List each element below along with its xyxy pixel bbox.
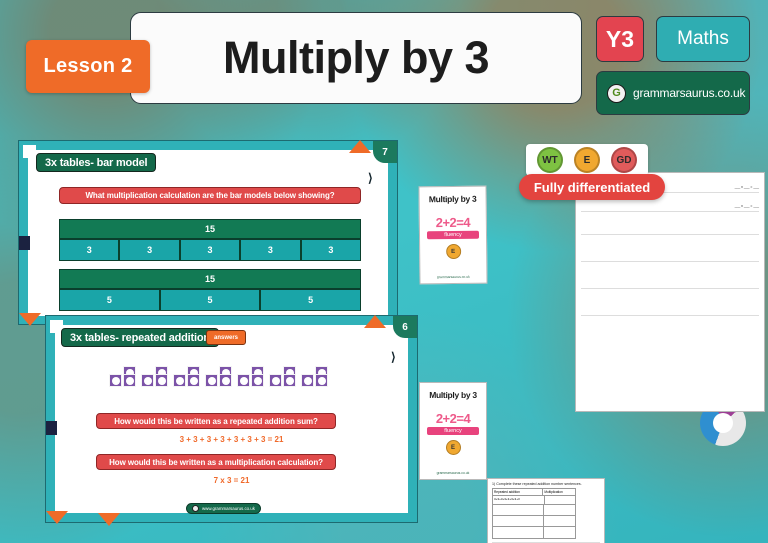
page-title: Multiply by 3 (223, 32, 489, 84)
cube-cell (187, 374, 200, 387)
question-text: Complete these repeated addition number … (496, 482, 582, 486)
fully-differentiated-badge: Fully differentiated (519, 174, 665, 200)
cube-cell (301, 374, 314, 387)
chevron-right-icon: ⟩ (391, 350, 396, 364)
cube-group (108, 366, 136, 387)
fluency-label: fluency (427, 231, 479, 240)
blank-answer-line[interactable]: ___ x ___ = ___ (735, 185, 759, 189)
decor-triangle-icon (349, 140, 371, 153)
cube-cell (123, 374, 136, 387)
decor-triangle-icon (46, 511, 68, 524)
cube-group (140, 366, 168, 387)
multiplication-answer: 7 x 3 = 21 (46, 476, 417, 485)
slide-thumbnail-bar-model[interactable]: ⟩ 7 3x tables- bar model What multiplica… (18, 140, 398, 325)
cube-group (236, 366, 264, 387)
fluency-badge: 2+2=4 fluency (427, 412, 479, 435)
table-header: Repeated addition (493, 489, 543, 495)
worksheet-footer: grammarsaurus.co.uk (420, 275, 486, 280)
worksheet-title: Multiply by 3 (420, 194, 486, 205)
cube-group (204, 366, 232, 387)
table-header: Multiplication (543, 489, 575, 495)
bar-model-parts: 5 5 5 (59, 289, 361, 311)
slide-preview-canvas: Multiply by 3 Lesson 2 Y3 Maths G gramma… (0, 0, 768, 543)
slide-page-number: 6 (393, 316, 417, 338)
cube-cell (315, 374, 328, 387)
slide-title-tag: 3x tables- bar model (36, 153, 156, 172)
cube-cell (141, 374, 154, 387)
question-heading: 1) Complete these repeated addition numb… (492, 482, 600, 486)
slide-question-bar: What multiplication calculation are the … (59, 187, 361, 204)
footer-url-label: www.grammarsaurus.co.uk (202, 506, 255, 511)
year-badge: Y3 (596, 16, 644, 62)
seal-e-icon: E (446, 440, 461, 455)
table-cell[interactable] (545, 496, 575, 504)
worksheet-cover-e-2[interactable]: Multiply by 3 2+2=4 fluency E grammarsau… (419, 382, 487, 480)
cube-cell (173, 374, 186, 387)
seal-gd-icon: GD (611, 147, 637, 173)
brand-badge[interactable]: G grammarsaurus.co.uk (596, 71, 750, 115)
cube-cell (155, 374, 168, 387)
bar-model-part: 5 (59, 289, 160, 311)
repeated-addition-answer: 3 + 3 + 3 + 3 + 3 + 3 + 3 = 21 (46, 435, 417, 444)
slide-edge-marker (46, 421, 57, 435)
table-cell[interactable] (493, 527, 544, 538)
bar-model-part: 3 (240, 239, 300, 261)
cube-group (300, 366, 328, 387)
cube-cell (237, 374, 250, 387)
worksheet-cover-e-1[interactable]: Multiply by 3 2+2=4 fluency E grammarsau… (418, 186, 487, 285)
answers-tag[interactable]: answers (206, 330, 246, 345)
table-cell[interactable] (544, 527, 575, 538)
bar-model-part: 3 (59, 239, 119, 261)
slide-footer-badge: www.grammarsaurus.co.uk (186, 503, 261, 514)
equation-label: 2+2=4 (427, 216, 479, 230)
repeated-addition-question: How would this be written as a repeated … (96, 413, 336, 429)
cube-cell (269, 374, 282, 387)
blank-answer-line[interactable]: ___ x ___ = ___ (735, 204, 759, 208)
cube-cell (109, 374, 122, 387)
brand-url-label: grammarsaurus.co.uk (633, 86, 745, 100)
slide-corner-marker (23, 145, 36, 158)
table-cell[interactable] (544, 505, 575, 515)
differentiation-seals: WT E GD (526, 144, 648, 176)
cube-cell (219, 374, 232, 387)
seal-e-icon: E (574, 147, 600, 173)
grammarsaurus-logo-icon (192, 505, 199, 512)
slide-edge-marker (19, 236, 30, 250)
slide-page-number: 7 (373, 141, 397, 163)
grammarsaurus-logo-icon: G (607, 84, 626, 103)
cube-cell (251, 374, 264, 387)
subject-badge: Maths (656, 16, 750, 62)
bar-model-parts: 3 3 3 3 3 (59, 239, 361, 261)
cube-group (172, 366, 200, 387)
table-cell[interactable] (493, 505, 544, 515)
decor-triangle-icon (98, 513, 120, 526)
seal-e-icon: E (446, 244, 461, 259)
decor-triangle-icon (364, 315, 386, 328)
worksheet-question-page-a[interactable]: 1) Complete these repeated addition numb… (487, 478, 605, 543)
slide-title-tag: 3x tables- repeated addition (61, 328, 219, 347)
bar-model-total: 15 (59, 269, 361, 289)
cube-group (268, 366, 296, 387)
worksheet-back-page[interactable]: · · · · · · · · · ___ x ___ = ___ 3+3+3+… (575, 172, 765, 412)
bar-model-part: 5 (260, 289, 361, 311)
worksheet-footer: grammarsaurus.co.uk (420, 471, 486, 475)
slide-thumbnail-repeated-addition[interactable]: ⟩ 6 3x tables- repeated addition answers… (45, 315, 418, 523)
table-cell: 3+3+3+3+3+3+3+3 (493, 496, 545, 504)
bar-model-part: 5 (160, 289, 261, 311)
worksheet-title: Multiply by 3 (420, 390, 486, 400)
table-cell[interactable] (493, 516, 544, 526)
question-number: 1) (492, 482, 495, 486)
bar-model-part: 3 (301, 239, 361, 261)
lesson-title-panel: Multiply by 3 (130, 12, 582, 104)
table-cell[interactable] (544, 516, 575, 526)
cube-cell (205, 374, 218, 387)
decor-triangle-icon (19, 313, 41, 326)
seal-wt-icon: WT (537, 147, 563, 173)
bar-model-part: 3 (180, 239, 240, 261)
multiplication-question: How would this be written as a multiplic… (96, 454, 336, 470)
cube-group-row (108, 366, 328, 387)
fluency-badge: 2+2=4 fluency (427, 216, 479, 240)
bar-model-part: 3 (119, 239, 179, 261)
fluency-label: fluency (427, 427, 479, 435)
equation-label: 2+2=4 (427, 412, 479, 425)
lesson-badge: Lesson 2 (26, 40, 150, 93)
cube-cell (283, 374, 296, 387)
bar-model-total: 15 (59, 219, 361, 239)
chevron-right-icon: ⟩ (368, 171, 373, 185)
